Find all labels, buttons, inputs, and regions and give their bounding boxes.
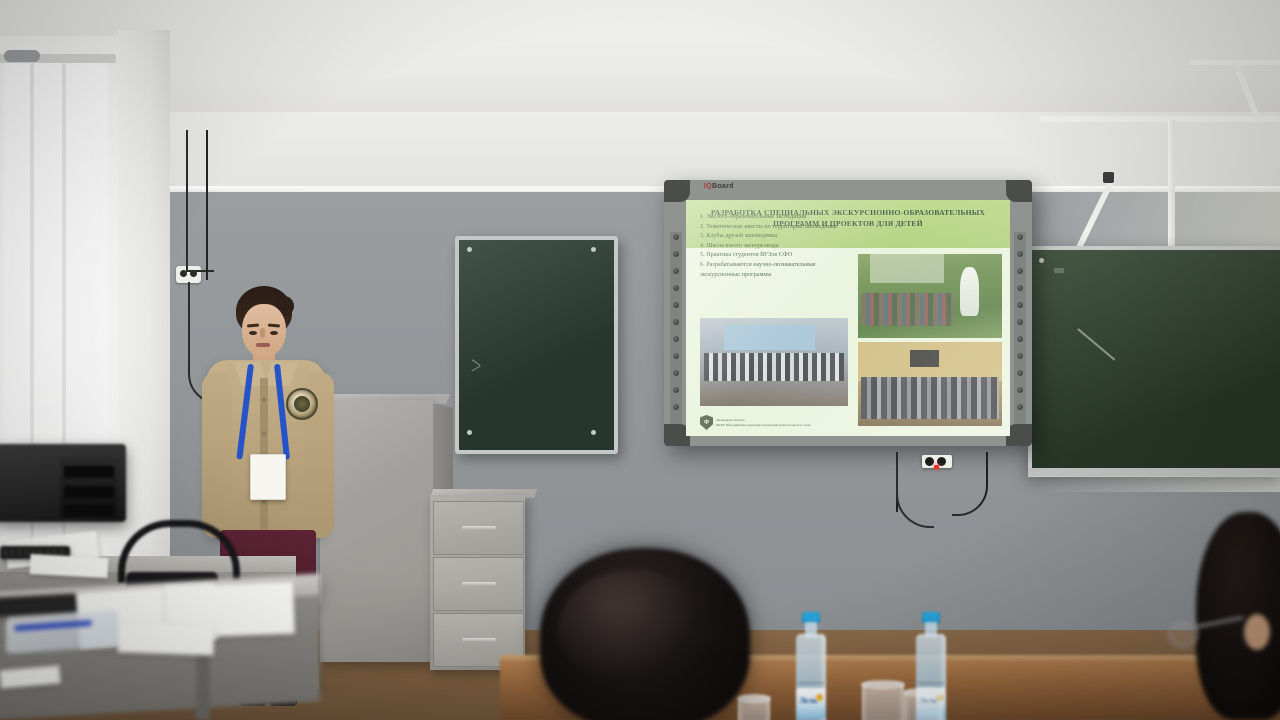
chalk-mark [471,366,480,372]
eye [270,331,278,335]
chalk-tray-right [1028,468,1280,476]
drawer-handle[interactable] [462,638,496,642]
nose [260,328,265,338]
attendee-ear [1244,614,1270,650]
paper-sheet [30,554,109,578]
left-arm-sleeve [202,372,232,538]
shield-mark: Ф [704,420,709,426]
drawer-pedestal[interactable] [430,495,525,670]
plastic-cup[interactable] [904,690,942,720]
bottle-label: Лель [796,688,826,718]
bullet-item: 3. Клубы друзей заповедника [700,231,852,241]
eye [249,331,257,335]
wall-cable [206,130,208,280]
eyebrow [247,323,259,327]
slide-photo-indoor-group [858,342,1002,426]
board-magnet[interactable] [1039,258,1044,263]
power-strip[interactable] [922,455,952,468]
board-magnet[interactable] [591,430,596,435]
plastic-cup[interactable] [738,696,770,720]
water-bottle[interactable]: Лель [796,612,826,720]
bottle-brand-text: Лель [799,696,817,705]
brand-q-text: IQ [704,183,712,190]
bullet-item: 4. Школа юного экскурсовода [700,241,852,251]
drawer-handle[interactable] [462,582,496,586]
desk-leg [196,650,210,720]
bullet-item: 1. Эколого-образовательные экспедиции [700,212,852,222]
plastic-cup[interactable] [862,682,904,720]
chalk-smudge [1054,268,1064,273]
attendee-head-center [540,548,750,720]
ceiling-trim-right [1040,116,1280,122]
shirt-button [262,398,266,402]
board-corner-cap [1006,180,1032,202]
ceiling [0,0,1280,128]
board-sensor-strip-left [670,232,682,424]
slide-organization-logo: Ф Заповедная система ФГБУ Объединённая д… [700,415,811,430]
interactive-whiteboard[interactable]: IQBoard РАЗРАБОТКА СПЕЦИАЛЬНЫХ ЭКСКУРСИО… [664,180,1032,446]
logo-line-2: ФГБУ Объединённая дирекция заповедников … [716,423,811,428]
board-brand-label: IQBoard [704,183,734,190]
bullet-item: 5. Практика студентов ВУЗов СФО [700,250,852,260]
classroom-presentation-photo: IQBoard РАЗРАБОТКА СПЕЦИАЛЬНЫХ ЭКСКУРСИО… [0,0,1280,720]
plug-icon [925,457,934,466]
shield-icon: Ф [700,415,713,430]
brand-word-text: Board [712,183,734,190]
chalkboard-left [455,236,618,454]
printer-output-tray [60,458,118,518]
drawer-handle[interactable] [462,526,496,530]
blind-end-cap [4,50,40,62]
shirt-button [262,500,266,504]
ceiling-mount-bracket [1103,172,1114,183]
board-magnet[interactable] [467,430,472,435]
slide-photo-conference-certificates [700,318,848,406]
office-printer[interactable] [0,444,126,522]
mouth [256,343,270,347]
board-magnet[interactable] [591,247,596,252]
power-led-indicator [934,465,939,469]
drawer[interactable] [433,557,524,611]
uniform-emblem-patch [286,388,318,420]
eyebrow [268,323,280,327]
bag-blue-strip [14,620,92,631]
slide-photo-outdoor-excursion [858,254,1002,338]
board-magnet[interactable] [467,247,472,252]
chalkboard-right [1028,246,1280,477]
label-dot-icon [816,694,823,701]
slide-bullet-list: 1. Эколого-образовательные экспедиции 2.… [700,212,852,279]
board-corner-cap [664,180,690,202]
bullet-item: 6. Разрабатываются научно-познавательные… [700,260,852,279]
board-sensor-strip-right [1014,232,1026,424]
projected-slide: РАЗРАБОТКА СПЕЦИАЛЬНЫХ ЭКСКУРСИОННО-ОБРА… [686,200,1010,436]
bullet-item: 2. Тематические квесты по территории зап… [700,222,852,232]
id-badge [250,454,286,500]
shirt-button [262,432,266,436]
drawer[interactable] [433,501,524,555]
chalk-stroke [1077,328,1115,360]
paper-sheet [118,622,215,655]
wall-cable [186,130,214,272]
